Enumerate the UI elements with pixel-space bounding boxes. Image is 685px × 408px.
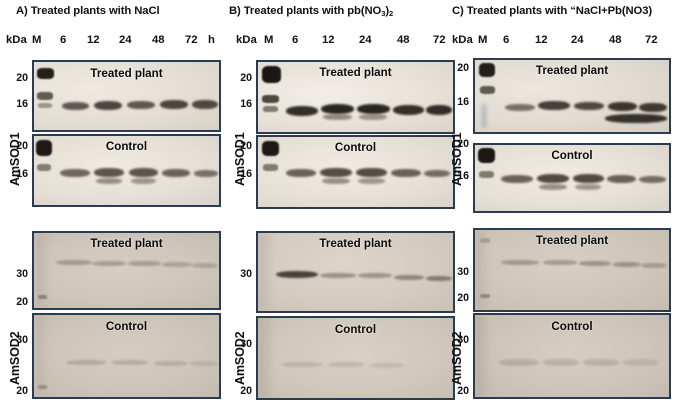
blot-title-treated: Treated plant	[34, 67, 219, 80]
lane-label-48: 48	[397, 34, 410, 46]
blot-title-treated: Treated plant	[34, 237, 219, 250]
lane-label-72: 72	[185, 34, 198, 46]
panel-b-title: B) Treated plants with pb(NO3)2	[229, 4, 461, 19]
mw-marker-30: 30	[230, 338, 252, 350]
blot-title-treated: Treated plant	[258, 237, 453, 250]
blot-amsod1-treated: Treated plant	[473, 58, 671, 134]
mw-marker-20: 20	[6, 296, 28, 308]
mw-marker-30: 30	[6, 334, 28, 346]
lane-label-m: M	[478, 34, 487, 46]
lane-label-12: 12	[87, 34, 100, 46]
blot-amsod1-control: Control	[32, 134, 221, 207]
panel-b-title-sub-3: 3	[381, 9, 385, 18]
lane-label-12: 12	[535, 34, 548, 46]
blot-amsod2-control: Control	[473, 313, 671, 399]
mw-marker-20: 20	[230, 72, 252, 84]
blot-title-control: Control	[34, 320, 219, 333]
lane-label-48: 48	[609, 34, 622, 46]
blot-title-treated: Treated plant	[258, 66, 453, 79]
lane-label-hour: h	[208, 34, 215, 46]
lane-label-72: 72	[433, 34, 446, 46]
lane-label-24: 24	[119, 34, 132, 46]
blot-amsod2-control: Control	[32, 313, 221, 399]
blot-amsod2-treated: Treated plant	[473, 228, 671, 312]
lane-label-24: 24	[571, 34, 584, 46]
blot-title-control: Control	[475, 149, 669, 162]
mw-marker-20: 20	[230, 385, 252, 397]
mw-marker-20: 20	[447, 385, 469, 397]
lane-label-kda: kDa	[236, 34, 257, 46]
blot-title-control: Control	[258, 323, 453, 336]
blot-amsod2-control: Control	[256, 316, 455, 400]
blot-title-control: Control	[258, 141, 453, 154]
mw-marker-16: 16	[230, 98, 252, 110]
blot-amsod1-treated: Treated plant	[32, 60, 221, 132]
panel-c: C) Treated plants with “NaCl+Pb(NO3) kDa…	[447, 0, 685, 408]
panel-b-lane-header: kDa M 6 12 24 48 72	[228, 34, 460, 50]
mw-marker-20: 20	[6, 72, 28, 84]
blot-title-treated: Treated plant	[475, 64, 669, 77]
panel-c-title: C) Treated plants with “NaCl+Pb(NO3)	[452, 4, 685, 18]
mw-marker-16: 16	[447, 96, 469, 108]
mw-marker-20: 20	[447, 292, 469, 304]
lane-label-24: 24	[359, 34, 372, 46]
lane-label-kda: kDa	[452, 34, 473, 46]
lane-label-m: M	[32, 34, 41, 46]
mw-marker-20: 20	[6, 140, 28, 152]
blot-amsod2-treated: Treated plant	[32, 231, 221, 310]
blot-amsod2-treated: Treated plant	[256, 231, 455, 313]
mw-marker-16: 16	[447, 170, 469, 182]
mw-marker-16: 16	[230, 168, 252, 180]
lane-label-m: M	[264, 34, 273, 46]
panel-a: A) Treated plants with NaCl kDa M 6 12 2…	[0, 0, 232, 408]
blot-amsod1-control: Control	[473, 143, 671, 213]
panel-a-title: A) Treated plants with NaCl	[16, 4, 248, 18]
mw-marker-20: 20	[6, 385, 28, 397]
lane-label-6: 6	[503, 34, 509, 46]
mw-marker-30: 30	[6, 268, 28, 280]
blot-amsod1-control: Control	[256, 135, 455, 209]
blot-title-treated: Treated plant	[475, 234, 669, 247]
lane-label-48: 48	[152, 34, 165, 46]
panel-b-title-sub-2: 2	[389, 9, 393, 18]
panel-c-lane-header: kDa M 6 12 24 48 72	[447, 34, 685, 50]
lane-label-kda: kDa	[6, 34, 27, 46]
panel-a-lane-header: kDa M 6 12 24 48 72 h	[0, 34, 232, 50]
blot-amsod1-treated: Treated plant	[256, 60, 455, 134]
mw-marker-16: 16	[6, 98, 28, 110]
lane-label-6: 6	[292, 34, 298, 46]
blot-title-control: Control	[475, 320, 669, 333]
panel-b-title-text: B) Treated plants with pb(NO	[229, 5, 381, 17]
mw-marker-16: 16	[6, 168, 28, 180]
panel-b: B) Treated plants with pb(NO3)2 kDa M 6 …	[228, 0, 460, 408]
blot-title-control: Control	[34, 140, 219, 153]
lane-label-12: 12	[322, 34, 335, 46]
mw-marker-30: 30	[230, 268, 252, 280]
mw-marker-30: 30	[447, 266, 469, 278]
mw-marker-20: 20	[230, 140, 252, 152]
lane-label-6: 6	[60, 34, 66, 46]
lane-label-72: 72	[645, 34, 658, 46]
